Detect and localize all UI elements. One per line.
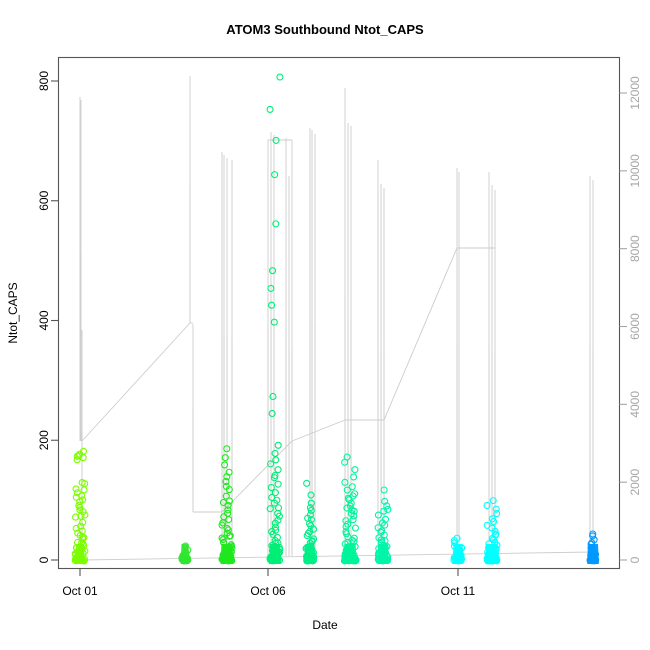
y-tick-label: 400 (37, 310, 51, 330)
y2-tick-label: 12000 (628, 76, 642, 110)
y2-tick-label: 10000 (628, 154, 642, 188)
chart-container: ATOM3 Southbound Ntot_CAPS 0200400600800… (0, 0, 650, 650)
x-tick-label: Oct 06 (250, 584, 286, 598)
x-tick-label: Oct 11 (441, 584, 476, 598)
y-tick-label: 800 (37, 71, 51, 91)
scatter-plot: ATOM3 Southbound Ntot_CAPS 0200400600800… (0, 0, 650, 650)
y2-tick-label: 2000 (628, 468, 642, 495)
y2-tick-label: 4000 (628, 391, 642, 418)
x-axis-label: Date (312, 618, 338, 632)
y-tick-label: 600 (37, 190, 51, 210)
y2-tick-label: 8000 (628, 235, 642, 262)
y-axis-label: Ntot_CAPS (6, 282, 20, 343)
y2-tick-label: 0 (628, 556, 642, 563)
y-tick-label: 200 (37, 430, 51, 450)
y-tick-label: 0 (37, 556, 51, 563)
chart-title: ATOM3 Southbound Ntot_CAPS (226, 22, 424, 37)
y2-tick-label: 6000 (628, 313, 642, 340)
x-tick-label: Oct 01 (62, 584, 98, 598)
